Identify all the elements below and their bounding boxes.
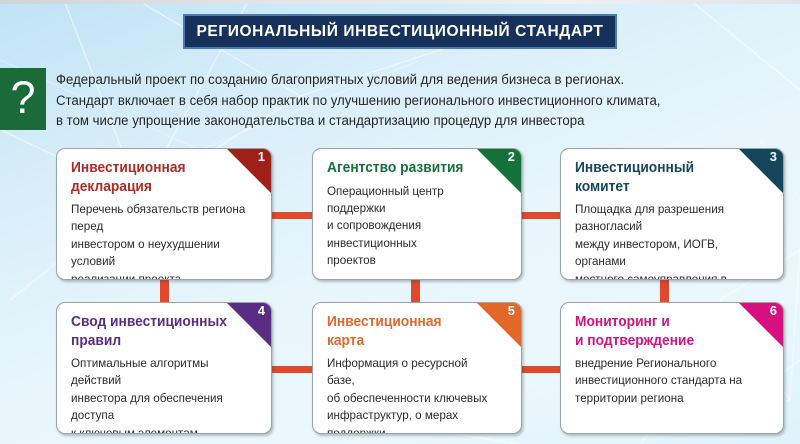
card-body: Операционный центр поддержки и сопровожд…: [327, 183, 498, 270]
page-title-banner: РЕГИОНАЛЬНЫЙ ИНВЕСТИЦИОННЫЙ СТАНДАРТ: [183, 14, 617, 49]
card-title: Инвестиционная декларация: [71, 159, 250, 196]
card-title: Свод инвестиционных правил: [71, 313, 250, 350]
card-title: Агентство развития: [327, 159, 500, 178]
card-number: 4: [258, 304, 265, 318]
card-body: внедрение Регионального инвестиционного …: [575, 355, 759, 407]
card-body: Перечень обязательств региона перед инве…: [71, 201, 248, 280]
card-number: 1: [258, 150, 265, 164]
card-title: Мониторинг и и подтверждение: [575, 313, 761, 350]
card-title: Инвестиционная карта: [327, 313, 500, 350]
infographic-root: РЕГИОНАЛЬНЫЙ ИНВЕСТИЦИОННЫЙ СТАНДАРТ ? Ф…: [0, 0, 800, 444]
question-mark-icon: ?: [0, 68, 46, 130]
card-investment-declaration[interactable]: 1 Инвестиционная декларация Перечень обя…: [56, 148, 272, 280]
card-investment-rules[interactable]: 4 Свод инвестиционных правил Оптимальные…: [56, 302, 272, 434]
connector-card4-card5: [272, 366, 314, 373]
connector-card2-card3: [520, 212, 562, 219]
card-number-badge: 4: [227, 303, 271, 347]
card-body: Оптимальные алгоритмы действий инвестора…: [71, 355, 248, 434]
card-number-badge: 5: [477, 303, 521, 347]
card-development-agency[interactable]: 2 Агентство развития Операционный центр …: [312, 148, 522, 280]
card-monitoring-confirmation[interactable]: 6 Мониторинг и и подтверждение внедрение…: [560, 302, 784, 434]
card-body: Информация о ресурсной базе, об обеспече…: [327, 355, 498, 434]
intro-paragraph: Федеральный проект по созданию благоприя…: [56, 70, 756, 132]
page-title: РЕГИОНАЛЬНЫЙ ИНВЕСТИЦИОННЫЙ СТАНДАРТ: [196, 23, 603, 41]
connector-card5-card6: [520, 366, 562, 373]
card-investment-map[interactable]: 5 Инвестиционная карта Информация о ресу…: [312, 302, 522, 434]
intro-line-1: Федеральный проект по созданию благоприя…: [56, 70, 707, 91]
card-number: 6: [770, 304, 777, 318]
card-title: Инвестиционный комитет: [575, 159, 761, 196]
card-number: 5: [508, 304, 515, 318]
card-number: 3: [770, 150, 777, 164]
card-investment-committee[interactable]: 3 Инвестиционный комитет Площадка для ра…: [560, 148, 784, 280]
card-number-badge: 6: [739, 303, 783, 347]
card-number: 2: [508, 150, 515, 164]
card-number-badge: 3: [739, 149, 783, 193]
card-number-badge: 1: [227, 149, 271, 193]
connector-card1-card2: [272, 212, 314, 219]
question-mark-glyph: ?: [10, 75, 35, 120]
top-edge-strip: [0, 0, 800, 4]
intro-line-3: в том числе упрощение законодательства и…: [56, 111, 707, 132]
card-body: Площадка для разрешения разногласий межд…: [575, 201, 759, 280]
card-number-badge: 2: [477, 149, 521, 193]
intro-line-2: Стандарт включает в себя набор практик п…: [56, 91, 707, 112]
